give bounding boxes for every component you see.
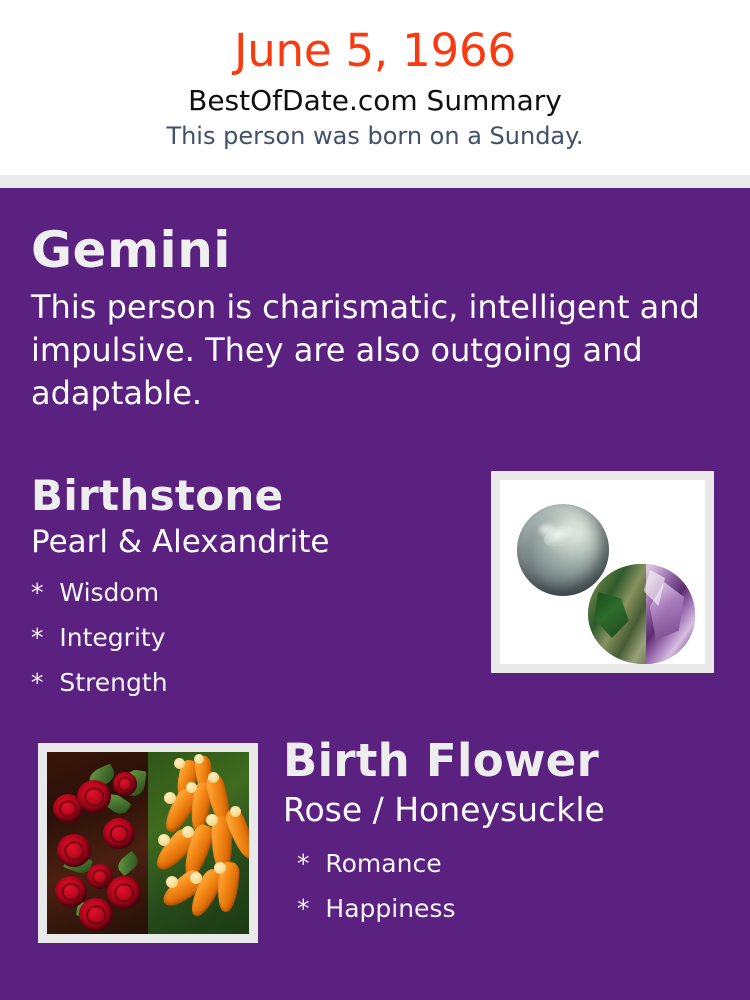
zodiac-sign-title: Gemini [31,220,721,280]
zodiac-description: This person is charismatic, intelligent … [31,280,721,415]
birth-flower-trait-list: * Romance * Happiness [283,831,723,931]
list-item: * Wisdom [31,570,471,615]
birth-flower-text-block: Birth Flower Rose / Honeysuckle * Romanc… [283,733,723,931]
birthstone-title: Birthstone [31,470,471,521]
birth-flower-photo [47,752,249,934]
zodiac-section: Gemini This person is charismatic, intel… [31,220,721,415]
birth-flower-photo-frame [38,743,258,943]
birth-day-note: This person was born on a Sunday. [0,119,750,152]
summary-card: June 5, 1966 BestOfDate.com Summary This… [0,0,750,1000]
list-item: * Happiness [297,886,723,931]
alexandrite-gem-icon [588,564,695,664]
birthstone-value: Pearl & Alexandrite [31,521,471,562]
roses-photo-half [47,752,148,934]
birthstone-trait-list: * Wisdom * Integrity * Strength [31,562,471,705]
list-item: * Integrity [31,615,471,660]
alexandrite-green-half [588,564,648,664]
birthstone-photo [500,480,705,664]
birthstone-text-block: Birthstone Pearl & Alexandrite * Wisdom … [31,470,471,705]
birth-flower-section: Birth Flower Rose / Honeysuckle * Romanc… [0,733,750,963]
header-separator [0,175,750,188]
page-title-date: June 5, 1966 [0,0,750,80]
birth-flower-value: Rose / Honeysuckle [283,788,723,831]
main-body: Gemini This person is charismatic, intel… [0,188,750,1000]
birthstone-section: Birthstone Pearl & Alexandrite * Wisdom … [0,470,750,690]
honeysuckle-photo-half [148,752,249,934]
header: June 5, 1966 BestOfDate.com Summary This… [0,0,750,175]
birth-flower-title: Birth Flower [283,733,723,788]
birthstone-photo-frame [491,471,714,673]
list-item: * Romance [297,841,723,886]
list-item: * Strength [31,660,471,705]
site-summary-label: BestOfDate.com Summary [0,80,750,119]
